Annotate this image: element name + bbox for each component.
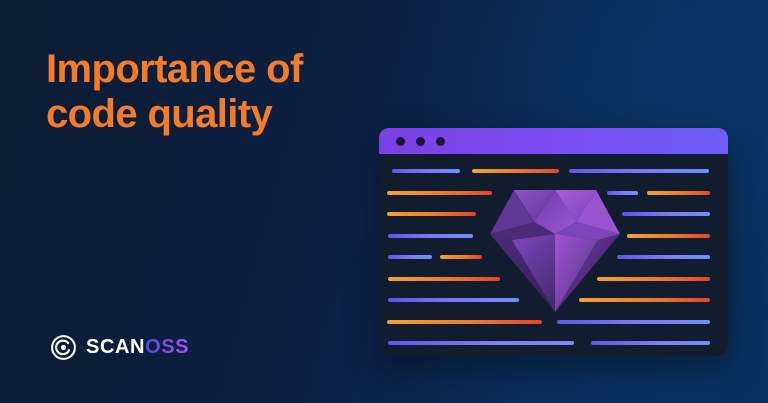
code-line-4-2 <box>627 234 710 238</box>
code-line-2-3 <box>647 191 710 195</box>
code-line-4-1 <box>388 234 473 238</box>
promo-banner: Importance of code quality SCAN OSS <box>0 0 768 403</box>
code-line-8-2 <box>557 320 710 324</box>
code-line-5-1 <box>388 255 432 259</box>
code-line-1-1 <box>392 169 460 173</box>
logo-word-oss: OSS <box>145 336 189 359</box>
code-line-6-1 <box>388 277 500 281</box>
logo-word-scan: SCAN <box>86 336 145 359</box>
scanoss-circle-logo-icon <box>50 334 77 361</box>
code-line-3-2 <box>622 212 710 216</box>
scanoss-wordmark: SCAN OSS <box>86 336 189 359</box>
code-line-5-2 <box>440 255 482 259</box>
window-dot-1-icon <box>396 137 405 146</box>
scanoss-logo: SCAN OSS <box>50 334 189 361</box>
window-dot-2-icon <box>416 137 425 146</box>
code-line-8-1 <box>387 320 542 324</box>
code-line-9-2 <box>591 341 710 345</box>
code-line-1-2 <box>472 169 559 173</box>
code-line-9-1 <box>388 341 574 345</box>
code-line-3-1 <box>387 212 476 216</box>
purple-gem-icon <box>490 190 620 312</box>
code-line-1-3 <box>569 169 709 173</box>
code-line-2-1 <box>387 191 492 195</box>
code-line-5-3 <box>617 255 710 259</box>
window-titlebar <box>379 128 728 154</box>
window-dot-3-icon <box>436 137 445 146</box>
page-title: Importance of code quality <box>46 47 303 137</box>
